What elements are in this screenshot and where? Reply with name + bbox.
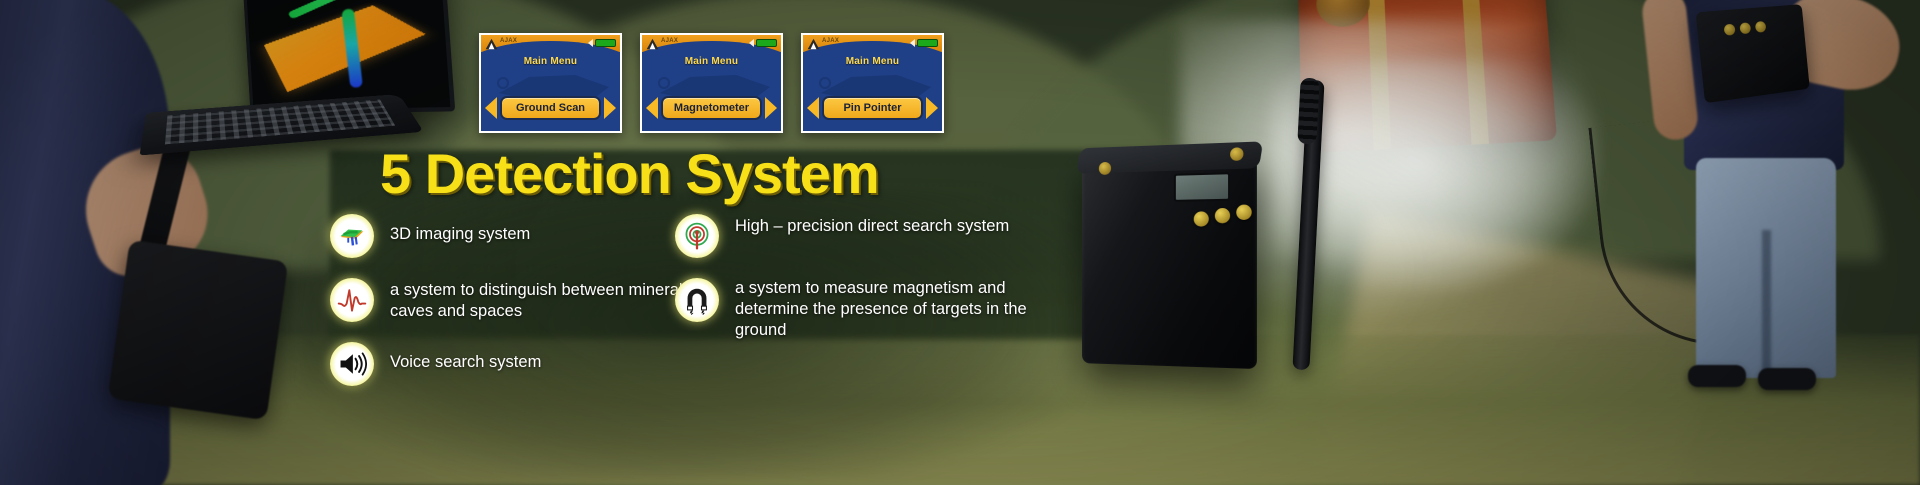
battery-icon: [595, 39, 616, 47]
feature-item-3d-imaging: 3D imaging system: [330, 214, 700, 258]
panel-mode-button[interactable]: Ground Scan: [500, 96, 601, 120]
chevron-right-icon[interactable]: [765, 97, 777, 119]
chevron-right-icon[interactable]: [604, 97, 616, 119]
feature-label: Voice search system: [390, 342, 541, 373]
chevron-left-icon[interactable]: [646, 97, 658, 119]
speaker-icon: [910, 39, 915, 47]
speaker-icon: [330, 342, 374, 386]
device-panel-pin-pointer[interactable]: AJAX Main Menu Pin Pointer: [801, 33, 944, 133]
battery-icon: [756, 39, 777, 47]
panel-title: Main Menu: [642, 56, 781, 67]
brand-logo-icon: [484, 37, 499, 51]
panel-battery-indicator: [588, 39, 616, 47]
panel-brand-label: AJAX: [822, 38, 839, 44]
feature-item-mineral-discrimination: a system to distinguish between minerals…: [330, 278, 700, 322]
feature-label: High – precision direct search system: [735, 214, 1009, 237]
speaker-icon: [588, 39, 593, 47]
chevron-right-icon[interactable]: [926, 97, 938, 119]
panel-mode-button[interactable]: Pin Pointer: [822, 96, 923, 120]
detector-promo-banner: AJAX Main Menu Ground Scan: [0, 0, 1920, 485]
panel-brand-label: AJAX: [661, 38, 678, 44]
target-signal-icon: [675, 214, 719, 258]
feature-label: 3D imaging system: [390, 214, 530, 245]
device-panel-ground-scan[interactable]: AJAX Main Menu Ground Scan: [479, 33, 622, 133]
panel-mode-selector[interactable]: Ground Scan: [481, 96, 620, 120]
feature-item-voice-search: Voice search system: [330, 342, 700, 386]
speaker-icon: [749, 39, 754, 47]
feature-label: a system to distinguish between minerals…: [390, 278, 700, 322]
feature-item-direct-search: High – precision direct search system: [675, 214, 1030, 258]
panel-title: Main Menu: [803, 56, 942, 67]
panel-mode-button[interactable]: Magnetometer: [661, 96, 762, 120]
waveform-icon: [330, 278, 374, 322]
device-menu-panels: AJAX Main Menu Ground Scan: [479, 33, 944, 133]
chevron-left-icon[interactable]: [807, 97, 819, 119]
panel-mode-selector[interactable]: Pin Pointer: [803, 96, 942, 120]
brand-logo-icon: [806, 37, 821, 51]
panel-mode-selector[interactable]: Magnetometer: [642, 96, 781, 120]
feature-item-magnetometer: a system to measure magnetism and determ…: [675, 278, 1030, 341]
feature-label: a system to measure magnetism and determ…: [735, 278, 1030, 341]
feature-column-left: 3D imaging system a system to distinguis…: [330, 214, 700, 406]
brand-logo-icon: [645, 37, 660, 51]
magnet-icon: [675, 278, 719, 322]
chevron-left-icon[interactable]: [485, 97, 497, 119]
page-title: 5 Detection System: [380, 141, 879, 206]
panel-battery-indicator: [910, 39, 938, 47]
3d-imaging-icon: [330, 214, 374, 258]
battery-icon: [917, 39, 938, 47]
feature-column-right: High – precision direct search system a …: [675, 214, 1030, 361]
panel-battery-indicator: [749, 39, 777, 47]
device-panel-magnetometer[interactable]: AJAX Main Menu Magnetometer: [640, 33, 783, 133]
panel-brand-label: AJAX: [500, 38, 517, 44]
panel-title: Main Menu: [481, 56, 620, 67]
